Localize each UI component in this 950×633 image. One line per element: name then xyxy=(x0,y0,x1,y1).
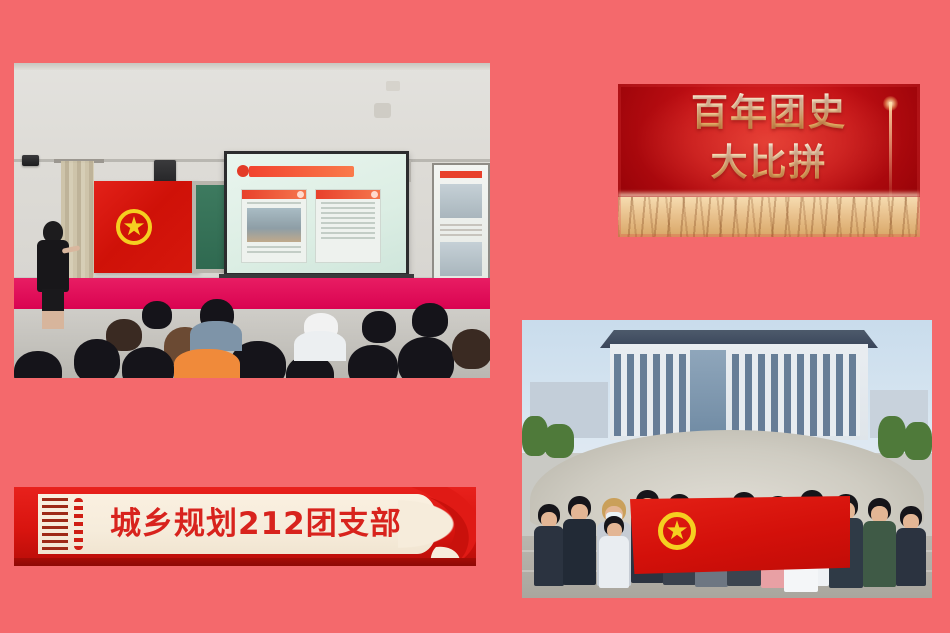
slide-card-header xyxy=(316,190,380,199)
slide-photo-thumb xyxy=(247,208,301,242)
league-emblem-icon xyxy=(116,209,152,245)
audience-group xyxy=(14,307,490,378)
projector-cable xyxy=(409,160,411,182)
league-emblem-icon xyxy=(658,512,696,550)
projector-screen xyxy=(224,151,409,276)
wall-mounted-sensor xyxy=(386,81,400,91)
ribbon-title-text: 城乡规划212团支部 xyxy=(110,501,402,547)
wall-mounted-box xyxy=(374,103,391,118)
classroom-lecture-photo[interactable] xyxy=(14,63,490,378)
building-center-column xyxy=(690,350,726,440)
slide-canvas: 百年团史 大比拼 xyxy=(0,0,950,633)
slide-card-left xyxy=(241,189,307,263)
side-poster-board xyxy=(432,163,490,281)
building-windows-left xyxy=(614,354,686,436)
star-icon xyxy=(124,216,145,237)
slide-title-bar xyxy=(249,166,354,177)
league-flag-on-wall xyxy=(94,181,199,273)
tree-icon xyxy=(544,424,574,458)
group-photo[interactable] xyxy=(522,320,932,598)
tree-icon xyxy=(904,422,932,460)
ribbon-bottom-edge xyxy=(14,558,476,566)
banner-border xyxy=(618,84,920,237)
tree-icon xyxy=(878,416,906,458)
wall-speaker-left xyxy=(22,155,39,166)
building-windows-right xyxy=(732,354,860,436)
wall-cornice xyxy=(14,63,490,70)
slide-card-right xyxy=(315,189,381,263)
ribbon-dash-pattern-left xyxy=(42,498,68,550)
ribbon-stitch-pattern xyxy=(74,498,83,550)
star-icon xyxy=(667,520,688,541)
slide-bullet-icon xyxy=(237,165,249,177)
slide-card-header xyxy=(242,190,306,199)
league-flag-held xyxy=(630,496,850,574)
baiNianTuanShi-banner[interactable]: 百年团史 大比拼 xyxy=(618,84,920,237)
ribbon-title-banner[interactable]: 城乡规划212团支部 xyxy=(14,487,476,566)
